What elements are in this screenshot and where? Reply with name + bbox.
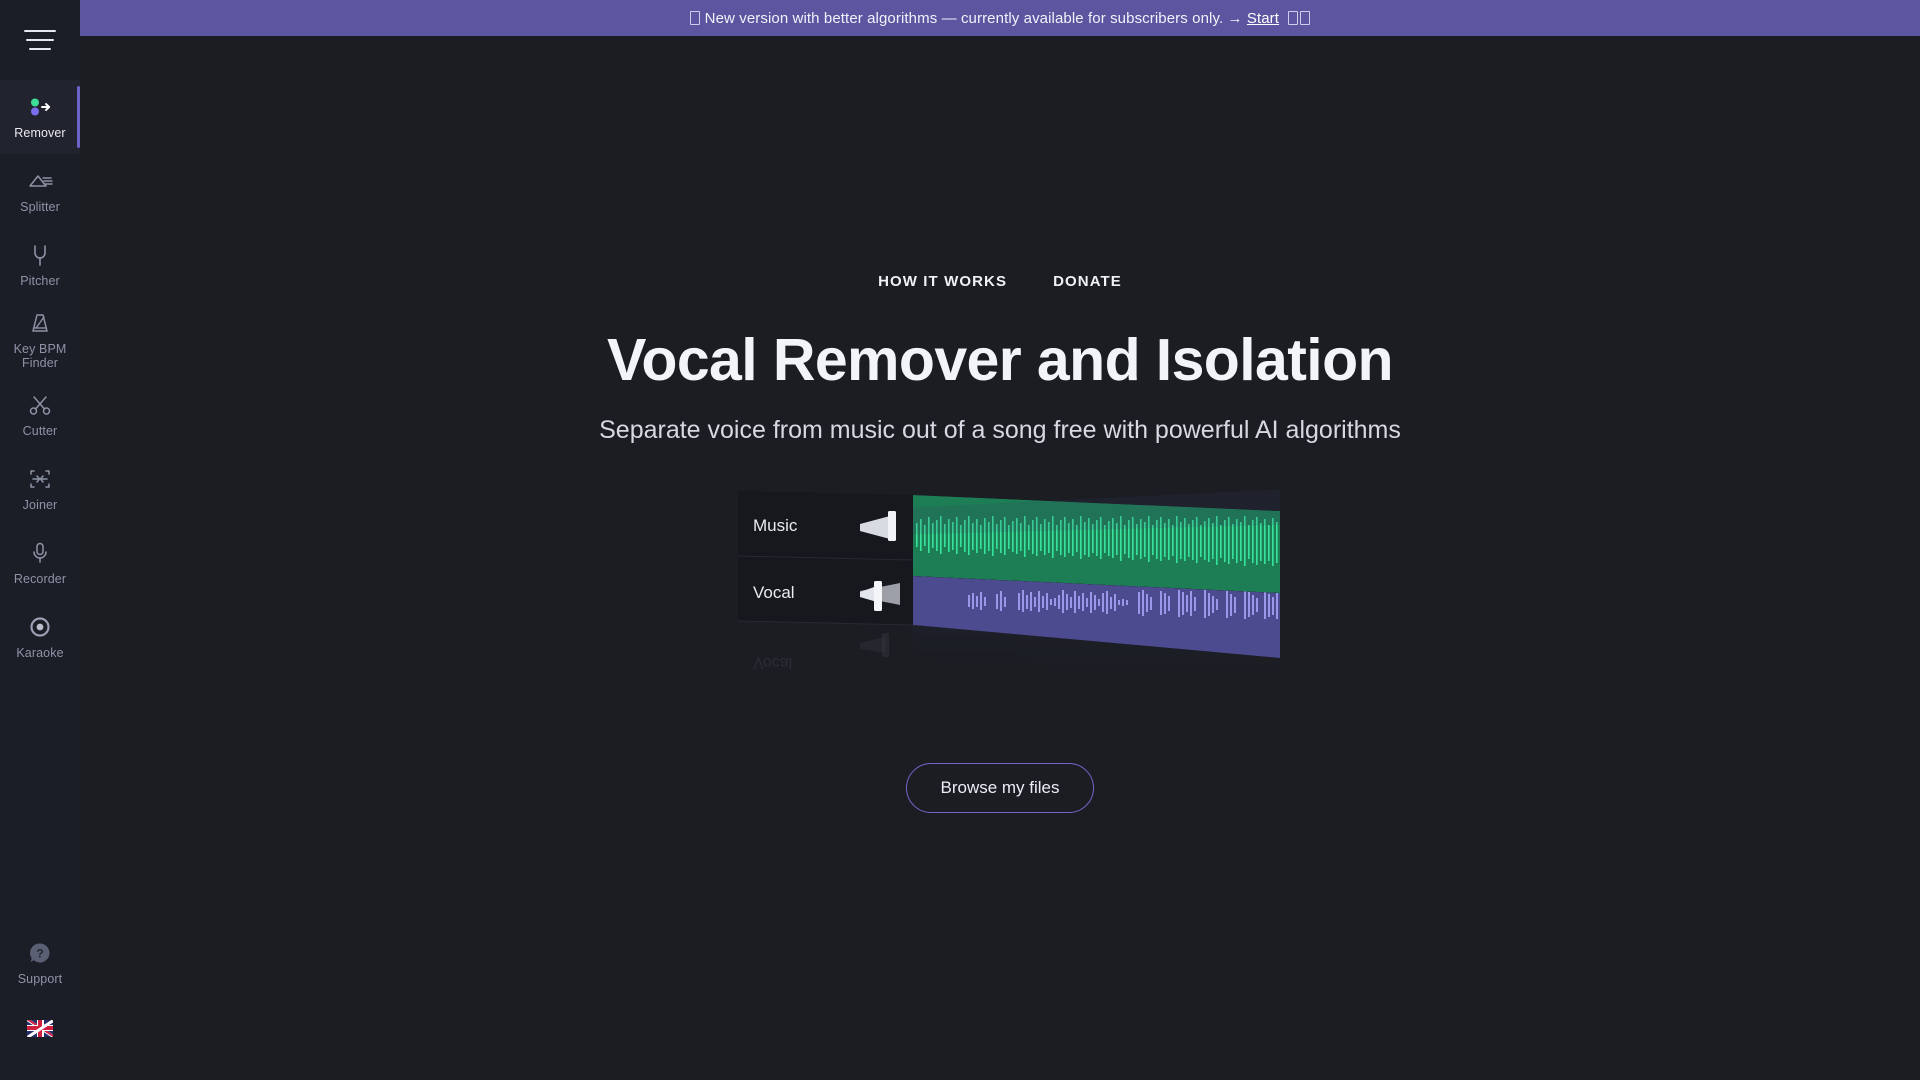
sidebar-item-label: Splitter bbox=[20, 200, 60, 214]
sidebar-item-label: Key BPM Finder bbox=[2, 342, 78, 370]
emoji-pair-icon-a bbox=[1288, 11, 1298, 25]
sidebar-item-label: Joiner bbox=[23, 498, 58, 512]
hamburger-icon[interactable] bbox=[0, 0, 80, 80]
track-label-music: Music bbox=[753, 516, 798, 535]
sidebar-item-recorder[interactable]: Recorder bbox=[0, 526, 80, 600]
track-label-vocal: Vocal bbox=[753, 583, 795, 602]
main-area: New version with better algorithms — cur… bbox=[80, 0, 1920, 1080]
sidebar-item-splitter[interactable]: Splitter bbox=[0, 154, 80, 228]
page-title: Vocal Remover and Isolation bbox=[607, 326, 1393, 394]
remover-icon bbox=[27, 94, 53, 120]
reflection-label: Vocal bbox=[753, 654, 792, 671]
pitcher-icon bbox=[27, 242, 53, 268]
sidebar-item-label: Karaoke bbox=[16, 646, 63, 660]
page-content: HOW IT WORKS DONATE Vocal Remover and Is… bbox=[80, 36, 1920, 1080]
promo-banner-text: New version with better algorithms — cur… bbox=[705, 10, 1243, 27]
language-switcher[interactable] bbox=[0, 1000, 80, 1056]
hero-illustration: Music bbox=[720, 473, 1280, 683]
karaoke-icon bbox=[27, 614, 53, 640]
joiner-icon bbox=[27, 466, 53, 492]
sidebar-item-key-bpm-finder[interactable]: Key BPM Finder bbox=[0, 302, 80, 378]
top-nav: HOW IT WORKS DONATE bbox=[878, 273, 1122, 290]
sidebar-item-label: Recorder bbox=[14, 572, 66, 586]
scissors-icon bbox=[27, 392, 53, 418]
sidebar-item-joiner[interactable]: Joiner bbox=[0, 452, 80, 526]
sidebar-item-label: Pitcher bbox=[20, 274, 60, 288]
nav-link-donate[interactable]: DONATE bbox=[1053, 273, 1122, 290]
promo-banner-start-link[interactable]: Start bbox=[1247, 10, 1279, 27]
sidebar-item-label: Cutter bbox=[23, 424, 58, 438]
sidebar-item-pitcher[interactable]: Pitcher bbox=[0, 228, 80, 302]
sidebar-item-remover[interactable]: Remover bbox=[0, 80, 80, 154]
hamburger-line-2 bbox=[26, 39, 54, 41]
page-subtitle: Separate voice from music out of a song … bbox=[599, 416, 1401, 445]
metronome-icon bbox=[27, 310, 53, 336]
nav-link-how-it-works[interactable]: HOW IT WORKS bbox=[878, 273, 1007, 290]
uk-flag-icon bbox=[27, 1020, 53, 1037]
emoji-pair-icon-b bbox=[1300, 11, 1310, 25]
sidebar-item-label: Support bbox=[18, 972, 62, 986]
svg-text:?: ? bbox=[36, 947, 43, 961]
sidebar-item-support[interactable]: ? Support bbox=[0, 926, 80, 1000]
splitter-icon bbox=[27, 168, 53, 194]
browse-my-files-button[interactable]: Browse my files bbox=[906, 763, 1093, 813]
promo-banner[interactable]: New version with better algorithms — cur… bbox=[80, 0, 1920, 36]
sidebar: Remover Splitter Pitcher Key BPM Finder bbox=[0, 0, 80, 1080]
audio-tracks-graphic: Music bbox=[720, 473, 1280, 683]
sidebar-nav: Remover Splitter Pitcher Key BPM Finder bbox=[0, 80, 80, 674]
hamburger-line-3 bbox=[29, 48, 51, 50]
sidebar-item-karaoke[interactable]: Karaoke bbox=[0, 600, 80, 674]
sidebar-item-label: Remover bbox=[14, 126, 65, 140]
microphone-icon bbox=[27, 540, 53, 566]
cta-container: Browse my files bbox=[906, 763, 1093, 813]
sidebar-item-cutter[interactable]: Cutter bbox=[0, 378, 80, 452]
sparkle-emoji-icon bbox=[690, 11, 700, 25]
track-label-panel bbox=[738, 491, 913, 625]
hamburger-line-1 bbox=[24, 30, 56, 32]
sidebar-bottom: ? Support bbox=[0, 926, 80, 1080]
question-circle-icon: ? bbox=[27, 940, 53, 966]
